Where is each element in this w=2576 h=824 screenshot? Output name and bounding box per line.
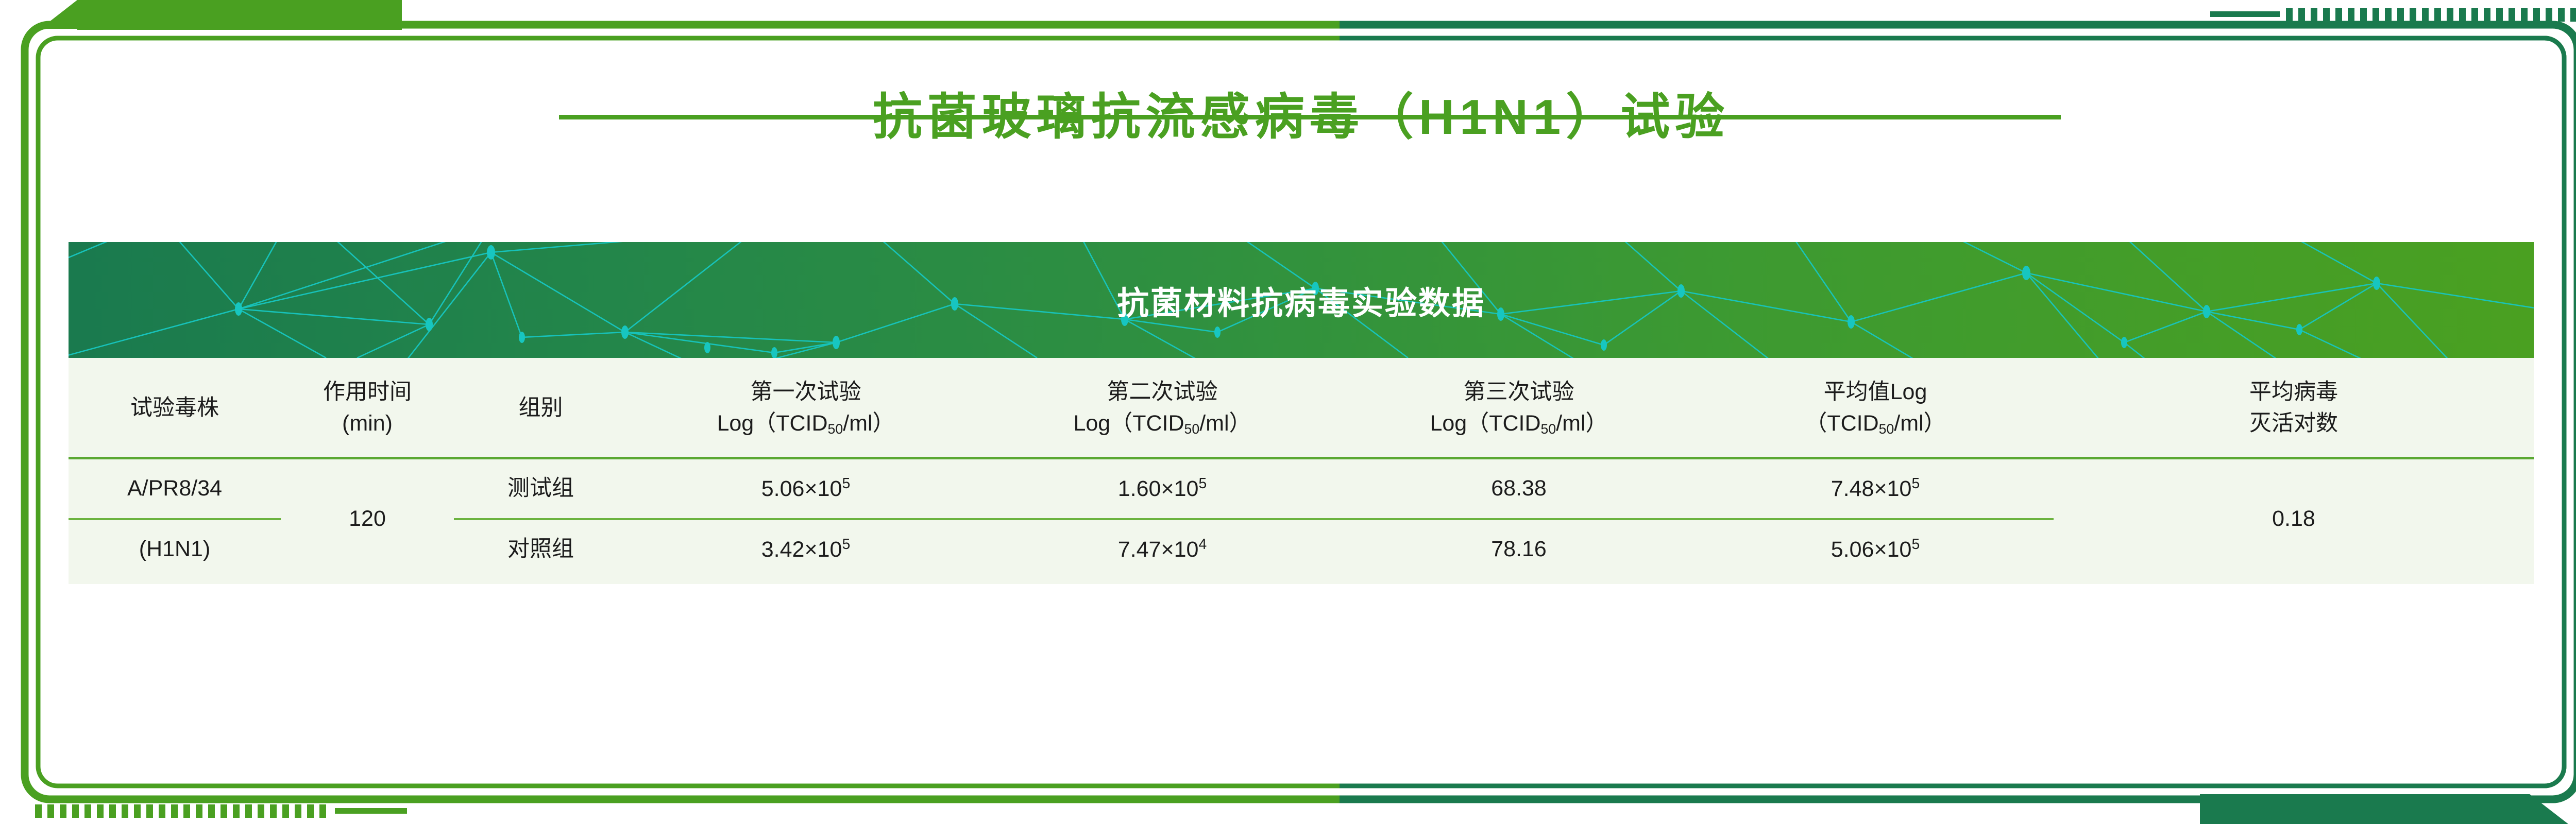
corner-wedge-bottom-right-diag xyxy=(2488,794,2568,824)
top-right-rule xyxy=(2210,11,2280,17)
experiment-table: 抗菌材料抗病毒实验数据 试验毒株 作用时间 (min) 组别 xyxy=(69,242,2534,584)
col-header-average: 平均值Log （TCID50/ml） xyxy=(1697,358,2054,458)
cell-strain-line2: (H1N1) xyxy=(69,519,281,579)
data-table: 试验毒株 作用时间 (min) 组别 第一次试验 Log（TCID50/ml） xyxy=(69,358,2534,579)
exponent: 5 xyxy=(1911,475,1920,492)
cell-duration: 120 xyxy=(281,458,454,579)
cell-test1-value: 5.06×105 xyxy=(628,458,984,520)
exponent: 5 xyxy=(842,536,850,553)
cell-test1-value: 3.42×105 xyxy=(628,519,984,579)
corner-wedge-top-left-diag xyxy=(40,0,118,29)
col-header-strain: 试验毒株 xyxy=(69,358,281,458)
bottom-left-rule xyxy=(335,808,407,814)
corner-tab-bottom-right xyxy=(2200,794,2530,824)
exponent: 5 xyxy=(1911,536,1920,553)
cell-inactivation-log: 0.18 xyxy=(2054,458,2534,579)
cell-test3-value: 78.16 xyxy=(1341,519,1697,579)
exponent: 5 xyxy=(1198,475,1207,492)
cell-test3-value: 68.38 xyxy=(1341,458,1697,520)
bottom-left-barcode xyxy=(35,804,326,818)
table-banner-title: 抗菌材料抗病毒实验数据 xyxy=(69,242,2534,358)
col-header-test1: 第一次试验 Log（TCID50/ml） xyxy=(628,358,984,458)
col-header-duration: 作用时间 (min) xyxy=(281,358,454,458)
corner-wedge-top-left xyxy=(41,0,402,29)
table-row: A/PR8/34 120 测试组 5.06×105 1.60×105 68.38… xyxy=(69,458,2534,520)
table-head: 试验毒株 作用时间 (min) 组别 第一次试验 Log（TCID50/ml） xyxy=(69,358,2534,458)
table-body: 试验毒株 作用时间 (min) 组别 第一次试验 Log（TCID50/ml） xyxy=(69,358,2534,584)
tcid-subscript: 50 xyxy=(1184,421,1200,437)
tcid-subscript: 50 xyxy=(1541,421,1556,437)
top-right-barcode xyxy=(2286,8,2576,22)
title-underline xyxy=(559,115,2061,119)
exponent: 5 xyxy=(842,475,850,492)
col-header-inactivation: 平均病毒 灭活对数 xyxy=(2054,358,2534,458)
corner-tab-top-left xyxy=(77,0,402,30)
cell-test2-value: 7.47×104 xyxy=(984,519,1341,579)
header-row: 试验毒株 作用时间 (min) 组别 第一次试验 Log（TCID50/ml） xyxy=(69,358,2534,458)
table-banner: 抗菌材料抗病毒实验数据 xyxy=(69,242,2534,358)
exponent: 4 xyxy=(1198,536,1207,553)
cell-strain-line1: A/PR8/34 xyxy=(69,458,281,520)
col-header-test3: 第三次试验 Log（TCID50/ml） xyxy=(1341,358,1697,458)
table-rows: A/PR8/34 120 测试组 5.06×105 1.60×105 68.38… xyxy=(69,458,2534,579)
tcid-subscript: 50 xyxy=(1879,421,1894,437)
cell-average-value: 5.06×105 xyxy=(1697,519,2054,579)
cell-test2-value: 1.60×105 xyxy=(984,458,1341,520)
col-header-group: 组别 xyxy=(454,358,628,458)
col-header-test2: 第二次试验 Log（TCID50/ml） xyxy=(984,358,1341,458)
tcid-subscript: 50 xyxy=(828,421,843,437)
cell-average-value: 7.48×105 xyxy=(1697,458,2054,520)
cell-group-test: 测试组 xyxy=(454,458,628,520)
cell-group-control: 对照组 xyxy=(454,519,628,579)
